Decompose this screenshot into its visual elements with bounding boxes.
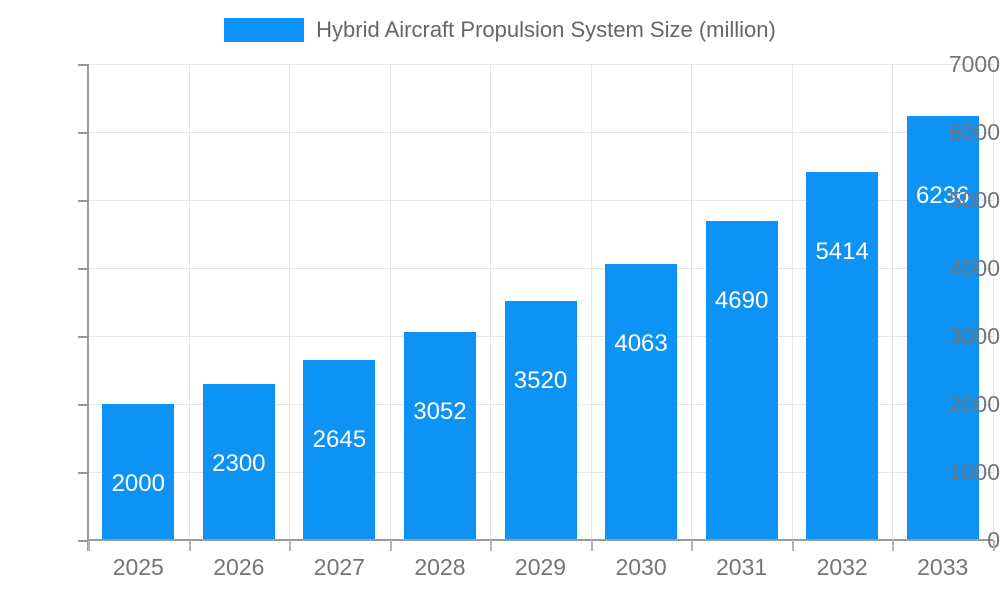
x-axis-tick-label: 2033: [892, 556, 993, 579]
bar-value-label: 3520: [491, 369, 591, 393]
x-axis-tick-label: 2026: [189, 556, 290, 579]
bar[interactable]: [706, 221, 778, 540]
y-axis-line: [87, 64, 89, 551]
y-axis-tick-label: 3000: [928, 325, 1000, 348]
y-axis-tick-label: 1000: [928, 461, 1000, 484]
gridline-vertical: [591, 64, 592, 540]
x-axis-tick-label: 2032: [792, 556, 893, 579]
gridline-vertical: [289, 64, 290, 540]
x-axis-tick-mark: [691, 540, 693, 551]
bar-value-label: 2300: [189, 452, 289, 476]
x-axis-tick-mark: [88, 540, 90, 551]
gridline-vertical: [892, 64, 893, 540]
y-axis-tick-mark: [78, 200, 88, 202]
gridline-horizontal: [88, 132, 993, 133]
bar-chart: Hybrid Aircraft Propulsion System Size (…: [0, 0, 1000, 600]
gridline-vertical: [490, 64, 491, 540]
plot-area: 200023002645305235204063469054146236: [88, 64, 993, 540]
x-axis-line: [88, 539, 993, 541]
bar-value-label: 3052: [390, 400, 490, 424]
bar[interactable]: [404, 332, 476, 540]
legend-item-label: Hybrid Aircraft Propulsion System Size (…: [316, 19, 776, 41]
x-axis-tick-label: 2028: [390, 556, 491, 579]
color-swatch-icon: [224, 18, 304, 42]
y-axis-tick-mark: [78, 404, 88, 406]
y-axis-tick-label: 2000: [928, 393, 1000, 416]
chart-legend: Hybrid Aircraft Propulsion System Size (…: [0, 12, 1000, 48]
gridline-vertical: [390, 64, 391, 540]
x-axis-tick-mark: [289, 540, 291, 551]
gridline-horizontal: [88, 64, 993, 65]
x-axis-tick-label: 2027: [289, 556, 390, 579]
bar[interactable]: [806, 172, 878, 540]
bar-value-label: 2645: [289, 428, 389, 452]
y-axis-tick-label: 4000: [928, 257, 1000, 280]
y-axis-tick-label: 6000: [928, 121, 1000, 144]
bar-value-label: 4690: [692, 289, 792, 313]
x-axis-tick-label: 2029: [490, 556, 591, 579]
gridline-vertical: [792, 64, 793, 540]
x-axis-tick-mark: [591, 540, 593, 551]
y-axis-tick-mark: [78, 336, 88, 338]
bar[interactable]: [505, 301, 577, 540]
x-axis-tick-mark: [490, 540, 492, 551]
legend-item-hybrid-aircraft-propulsion-system-size[interactable]: Hybrid Aircraft Propulsion System Size (…: [224, 18, 776, 42]
x-axis-tick-label: 2025: [88, 556, 189, 579]
x-axis-tick-mark: [892, 540, 894, 551]
x-axis-tick-label: 2030: [591, 556, 692, 579]
y-axis-tick-label: 5000: [928, 189, 1000, 212]
y-axis-tick-mark: [78, 132, 88, 134]
bar-value-label: 5414: [792, 240, 892, 264]
bar[interactable]: [605, 264, 677, 540]
bar-value-label: 2000: [88, 472, 188, 496]
y-axis-tick-mark: [78, 472, 88, 474]
x-axis-tick-mark: [189, 540, 191, 551]
y-axis-tick-mark: [78, 540, 88, 542]
y-axis-tick-mark: [78, 268, 88, 270]
y-axis-tick-label: 0: [928, 529, 1000, 552]
x-axis-tick-mark: [390, 540, 392, 551]
x-axis-tick-mark: [792, 540, 794, 551]
x-axis-tick-mark: [993, 540, 995, 551]
bar-value-label: 4063: [591, 332, 691, 356]
y-axis-tick-label: 7000: [928, 53, 1000, 76]
x-axis-tick-label: 2031: [691, 556, 792, 579]
y-axis-tick-mark: [78, 64, 88, 66]
